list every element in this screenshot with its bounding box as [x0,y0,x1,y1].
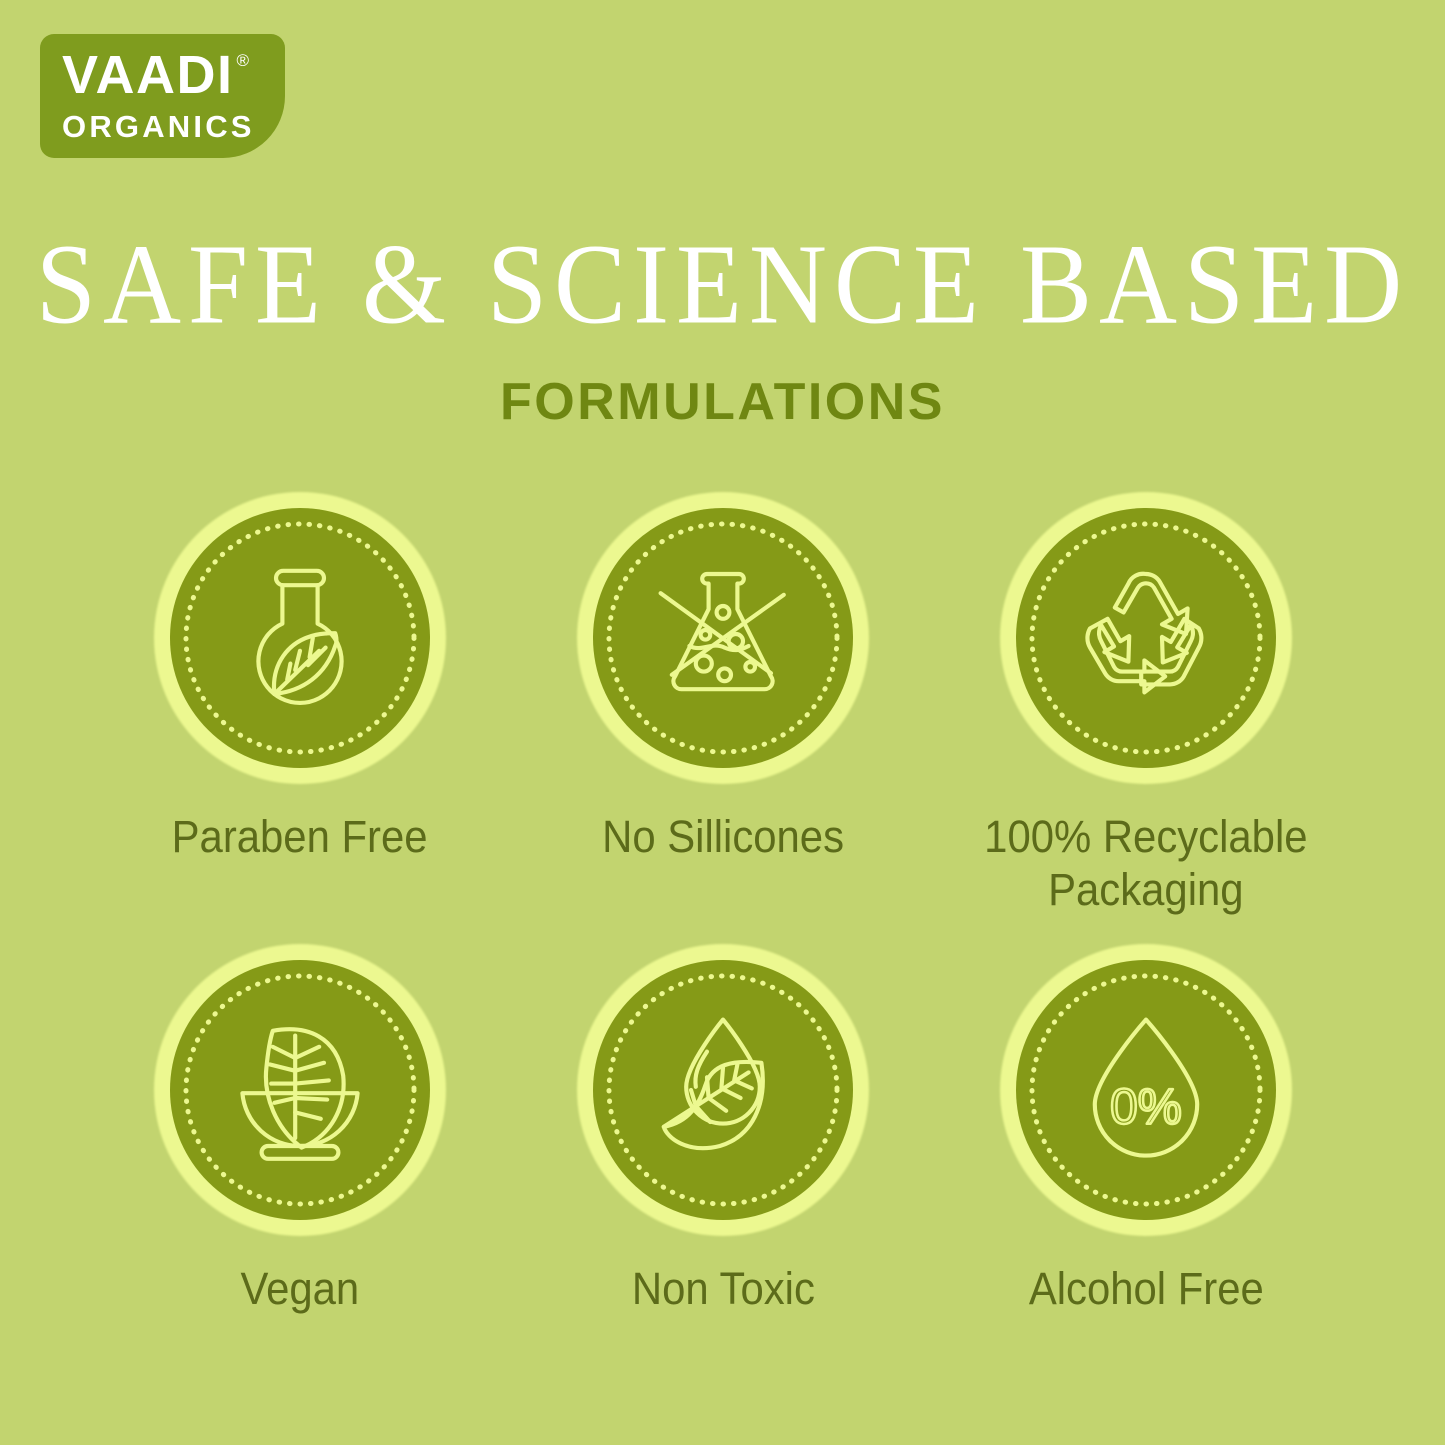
feature-label: Non Toxic [631,1262,814,1315]
registered-trademark-icon: ® [237,52,250,69]
feature-item: Vegan [88,944,511,1315]
feature-badge [1000,492,1292,784]
page-subtitle: FORMULATIONS [0,376,1445,428]
brand-name: VAADI [62,48,234,102]
feature-label: Paraben Free [172,810,428,863]
droplet-zero-percent-icon: 0% [1066,1010,1226,1170]
feature-label: No Sillicones [602,810,844,863]
feature-label: Alcohol Free [1029,1262,1264,1315]
feature-badge [154,492,446,784]
brand-tagline: ORGANICS [62,111,255,142]
feature-badge [154,944,446,1236]
feature-label: Vegan [240,1262,359,1315]
zero-percent-text: 0% [1110,1079,1182,1135]
feature-badge [577,944,869,1236]
brand-logo: VAADI ® ORGANICS [40,34,285,158]
feature-item: No Sillicones [511,492,934,916]
feature-label: 100% Recyclable Packaging [985,810,1308,916]
feature-badge: 0% [1000,944,1292,1236]
feature-item: 0% Alcohol Free [935,944,1358,1315]
page-title: SAFE & SCIENCE BASED [0,228,1445,342]
feature-badge [577,492,869,784]
recycle-icon [1066,558,1226,718]
feature-item: Paraben Free [88,492,511,916]
bowl-leaf-icon [220,1010,380,1170]
feature-grid: Paraben Free [88,492,1358,1315]
brand-name-row: VAADI ® [62,48,249,102]
poster-canvas: VAADI ® ORGANICS SAFE & SCIENCE BASED FO… [0,0,1445,1445]
flask-crossed-out-icon [643,558,803,718]
feature-item: 100% Recyclable Packaging [935,492,1358,916]
flask-round-leaf-icon [220,558,380,718]
feature-item: Non Toxic [511,944,934,1315]
droplet-leaf-icon [643,1010,803,1170]
